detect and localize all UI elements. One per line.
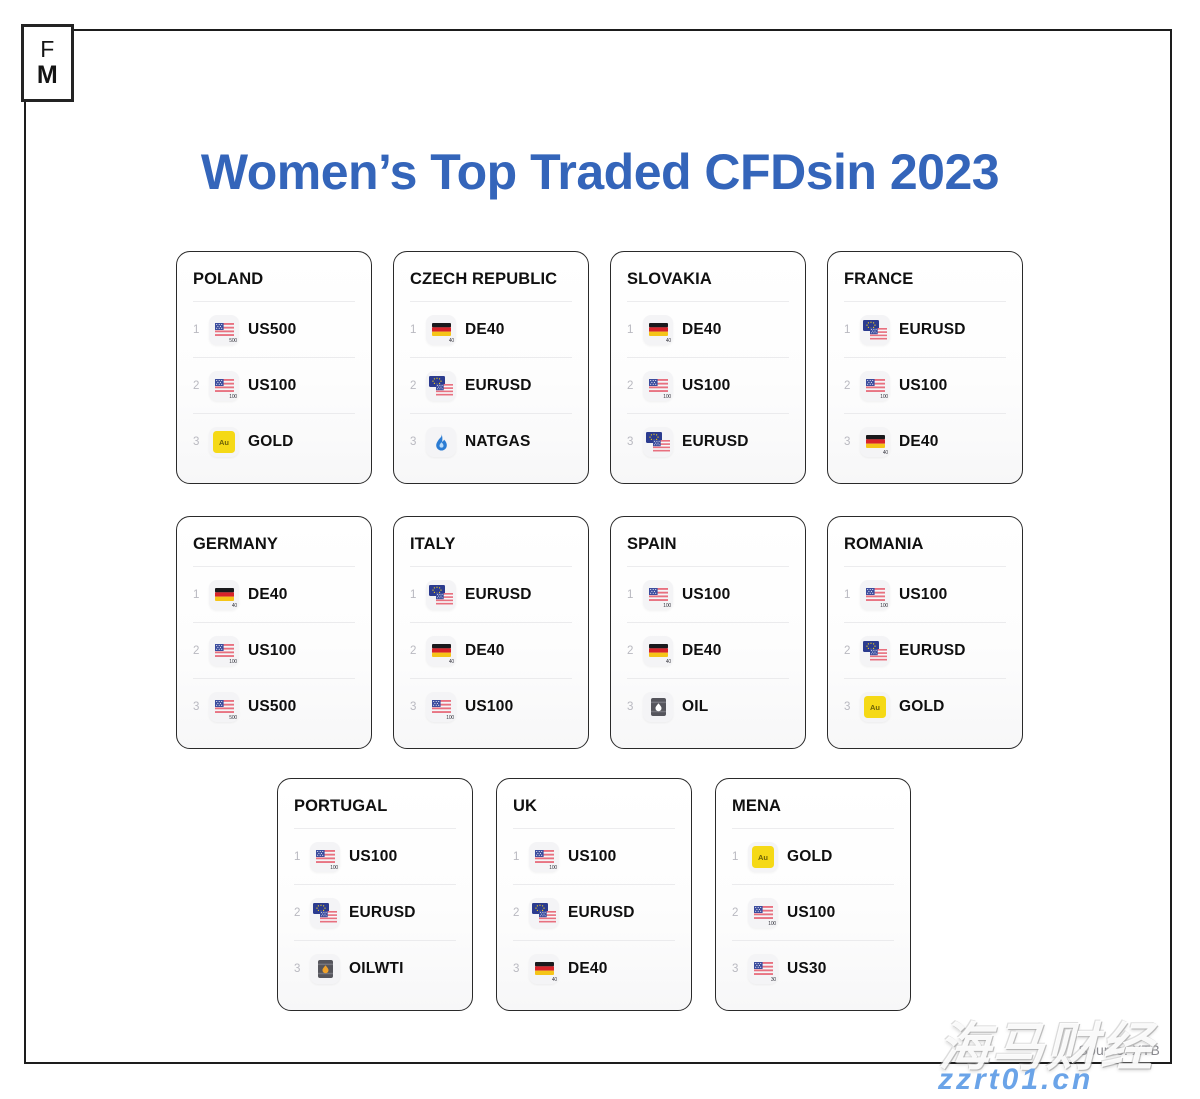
rank-number: 2: [410, 380, 426, 392]
instrument-row: 140DE40: [410, 301, 572, 357]
instrument-label: DE40: [682, 642, 722, 660]
rank-number: 2: [627, 645, 643, 657]
rank-number: 2: [627, 380, 643, 392]
icon-index-label: 100: [880, 604, 888, 609]
rank-number: 1: [627, 589, 643, 601]
gold-icon: Au: [209, 427, 239, 457]
instrument-list: 1100US100240DE403OIL: [627, 566, 789, 734]
country-card-title: SLOVAKIA: [627, 270, 789, 289]
instrument-row: 340DE40: [844, 413, 1006, 469]
instrument-label: DE40: [465, 642, 505, 660]
icon-index-label: 100: [549, 866, 557, 871]
us-flag-icon: 100: [310, 842, 340, 872]
gold-icon: Au: [748, 842, 778, 872]
country-card: SLOVAKIA140DE402100US1003EURUSD: [610, 251, 806, 484]
svg-text:Au: Au: [870, 703, 880, 712]
country-card: UK1100US1002EURUSD340DE40: [496, 778, 692, 1011]
eurusd-icon: [426, 580, 456, 610]
svg-text:Au: Au: [758, 853, 768, 862]
instrument-label: OILWTI: [349, 960, 404, 978]
instrument-row: 240DE40: [627, 622, 789, 678]
rank-number: 3: [193, 701, 209, 713]
instrument-row: 2100US100: [627, 357, 789, 413]
icon-index-label: 100: [229, 395, 237, 400]
instrument-label: EURUSD: [682, 433, 749, 451]
instrument-label: EURUSD: [465, 377, 532, 395]
instrument-row: 1100US100: [513, 828, 675, 884]
eurusd-icon: [643, 427, 673, 457]
fm-logo: F M: [21, 24, 74, 102]
instrument-row: 3OIL: [627, 678, 789, 734]
instrument-list: 1500US5002100US1003AuGOLD: [193, 301, 355, 469]
icon-index-label: 100: [663, 395, 671, 400]
icon-index-label: 500: [229, 716, 237, 721]
instrument-list: 1100US1002EURUSD3AuGOLD: [844, 566, 1006, 734]
country-card-title: SPAIN: [627, 535, 789, 554]
instrument-row: 1EURUSD: [844, 301, 1006, 357]
us-flag-icon: 100: [529, 842, 559, 872]
country-card-title: PORTUGAL: [294, 797, 456, 816]
instrument-row: 2100US100: [844, 357, 1006, 413]
instrument-row: 240DE40: [410, 622, 572, 678]
instrument-row: 1100US100: [844, 566, 1006, 622]
instrument-row: 3100US100: [410, 678, 572, 734]
instrument-list: 140DE402100US1003EURUSD: [627, 301, 789, 469]
rank-number: 3: [844, 701, 860, 713]
icon-index-label: 40: [449, 339, 454, 344]
icon-index-label: 40: [232, 604, 237, 609]
instrument-row: 1AuGOLD: [732, 828, 894, 884]
rank-number: 2: [193, 645, 209, 657]
instrument-list: 140DE402100US1003500US500: [193, 566, 355, 734]
us-flag-icon: 30: [748, 954, 778, 984]
instrument-row: 3500US500: [193, 678, 355, 734]
instrument-row: 2100US100: [193, 622, 355, 678]
rank-number: 1: [844, 324, 860, 336]
instrument-label: US100: [568, 848, 616, 866]
rank-number: 3: [294, 963, 310, 975]
instrument-row: 1100US100: [294, 828, 456, 884]
rank-number: 1: [294, 851, 310, 863]
natgas-icon: [426, 427, 456, 457]
instrument-row: 2100US100: [193, 357, 355, 413]
de-flag-icon: 40: [209, 580, 239, 610]
instrument-label: US100: [682, 377, 730, 395]
instrument-row: 3NATGAS: [410, 413, 572, 469]
instrument-label: DE40: [899, 433, 939, 451]
icon-index-label: 30: [771, 978, 776, 983]
instrument-label: GOLD: [899, 698, 945, 716]
instrument-label: NATGAS: [465, 433, 531, 451]
icon-index-label: 100: [768, 922, 776, 927]
svg-text:Au: Au: [219, 438, 229, 447]
instrument-label: US100: [248, 377, 296, 395]
country-card-title: ROMANIA: [844, 535, 1006, 554]
eurusd-icon: [529, 898, 559, 928]
instrument-label: US100: [682, 586, 730, 604]
de-flag-icon: 40: [643, 636, 673, 666]
instrument-label: US100: [787, 904, 835, 922]
instrument-label: GOLD: [248, 433, 294, 451]
instrument-row: 2100US100: [732, 884, 894, 940]
country-card: CZECH REPUBLIC140DE402EURUSD3NATGAS: [393, 251, 589, 484]
us-flag-icon: 500: [209, 692, 239, 722]
instrument-row: 2EURUSD: [410, 357, 572, 413]
country-card-title: ITALY: [410, 535, 572, 554]
country-card: POLAND1500US5002100US1003AuGOLD: [176, 251, 372, 484]
icon-index-label: 40: [552, 978, 557, 983]
instrument-row: 1500US500: [193, 301, 355, 357]
country-card-title: POLAND: [193, 270, 355, 289]
instrument-row: 3AuGOLD: [844, 678, 1006, 734]
us-flag-icon: 100: [426, 692, 456, 722]
country-card: GERMANY140DE402100US1003500US500: [176, 516, 372, 749]
instrument-label: OIL: [682, 698, 708, 716]
icon-index-label: 40: [666, 339, 671, 344]
instrument-label: EURUSD: [899, 321, 966, 339]
instrument-label: GOLD: [787, 848, 833, 866]
icon-index-label: 100: [663, 604, 671, 609]
rank-number: 2: [193, 380, 209, 392]
logo-letter-f: F: [40, 38, 55, 61]
de-flag-icon: 40: [643, 315, 673, 345]
instrument-row: 2EURUSD: [844, 622, 1006, 678]
instrument-list: 1EURUSD240DE403100US100: [410, 566, 572, 734]
instrument-list: 1100US1002EURUSD3OILWTI: [294, 828, 456, 996]
us-flag-icon: 100: [209, 371, 239, 401]
rank-number: 1: [513, 851, 529, 863]
instrument-label: EURUSD: [465, 586, 532, 604]
logo-letter-m: M: [37, 63, 58, 88]
source-label: Source: XTB: [1078, 1042, 1160, 1058]
instrument-list: 1EURUSD2100US100340DE40: [844, 301, 1006, 469]
us-flag-icon: 100: [860, 580, 890, 610]
rank-number: 1: [410, 324, 426, 336]
us-flag-icon: 100: [643, 580, 673, 610]
icon-index-label: 100: [880, 395, 888, 400]
rank-number: 3: [627, 701, 643, 713]
rank-number: 1: [410, 589, 426, 601]
instrument-label: US500: [248, 698, 296, 716]
us-flag-icon: 100: [643, 371, 673, 401]
de-flag-icon: 40: [529, 954, 559, 984]
instrument-row: 3OILWTI: [294, 940, 456, 996]
icon-index-label: 40: [666, 660, 671, 665]
card-row-1: POLAND1500US5002100US1003AuGOLDCZECH REP…: [176, 251, 1023, 484]
rank-number: 3: [844, 436, 860, 448]
instrument-label: US100: [465, 698, 513, 716]
icon-index-label: 100: [229, 660, 237, 665]
rank-number: 2: [732, 907, 748, 919]
instrument-row: 1EURUSD: [410, 566, 572, 622]
instrument-label: DE40: [248, 586, 288, 604]
country-card-title: MENA: [732, 797, 894, 816]
de-flag-icon: 40: [426, 315, 456, 345]
rank-number: 1: [627, 324, 643, 336]
country-card: MENA1AuGOLD2100US100330US30: [715, 778, 911, 1011]
instrument-label: DE40: [568, 960, 608, 978]
instrument-row: 140DE40: [627, 301, 789, 357]
us-flag-icon: 100: [209, 636, 239, 666]
eurusd-icon: [860, 315, 890, 345]
de-flag-icon: 40: [860, 427, 890, 457]
instrument-row: 340DE40: [513, 940, 675, 996]
instrument-label: US100: [248, 642, 296, 660]
page-title: Women’s Top Traded CFDsin 2023: [0, 143, 1200, 201]
country-card-title: FRANCE: [844, 270, 1006, 289]
icon-index-label: 40: [449, 660, 454, 665]
country-card: ITALY1EURUSD240DE403100US100: [393, 516, 589, 749]
us-flag-icon: 100: [748, 898, 778, 928]
instrument-label: US100: [349, 848, 397, 866]
oilwti-icon: [310, 954, 340, 984]
oil-icon: [643, 692, 673, 722]
instrument-label: EURUSD: [349, 904, 416, 922]
rank-number: 2: [294, 907, 310, 919]
icon-index-label: 500: [229, 339, 237, 344]
instrument-label: US500: [248, 321, 296, 339]
rank-number: 2: [513, 907, 529, 919]
country-card-title: CZECH REPUBLIC: [410, 270, 572, 289]
instrument-row: 3EURUSD: [627, 413, 789, 469]
instrument-row: 1100US100: [627, 566, 789, 622]
instrument-row: 3AuGOLD: [193, 413, 355, 469]
country-card-title: GERMANY: [193, 535, 355, 554]
rank-number: 1: [193, 589, 209, 601]
rank-number: 1: [193, 324, 209, 336]
instrument-list: 1100US1002EURUSD340DE40: [513, 828, 675, 996]
rank-number: 3: [732, 963, 748, 975]
instrument-list: 140DE402EURUSD3NATGAS: [410, 301, 572, 469]
us-flag-icon: 500: [209, 315, 239, 345]
rank-number: 3: [627, 436, 643, 448]
instrument-label: EURUSD: [899, 642, 966, 660]
rank-number: 3: [410, 436, 426, 448]
rank-number: 1: [732, 851, 748, 863]
eurusd-icon: [860, 636, 890, 666]
eurusd-icon: [426, 371, 456, 401]
rank-number: 3: [513, 963, 529, 975]
country-card: FRANCE1EURUSD2100US100340DE40: [827, 251, 1023, 484]
watermark-url: zzrt01.cn: [938, 1063, 1093, 1097]
instrument-row: 2EURUSD: [294, 884, 456, 940]
de-flag-icon: 40: [426, 636, 456, 666]
instrument-list: 1AuGOLD2100US100330US30: [732, 828, 894, 996]
instrument-label: DE40: [682, 321, 722, 339]
instrument-label: DE40: [465, 321, 505, 339]
instrument-label: US100: [899, 586, 947, 604]
country-card-title: UK: [513, 797, 675, 816]
card-row-2: GERMANY140DE402100US1003500US500ITALY1EU…: [176, 516, 1023, 749]
rank-number: 2: [844, 380, 860, 392]
icon-index-label: 100: [330, 866, 338, 871]
instrument-row: 140DE40: [193, 566, 355, 622]
rank-number: 1: [844, 589, 860, 601]
card-row-3: PORTUGAL1100US1002EURUSD3OILWTIUK1100US1…: [277, 778, 934, 1011]
gold-icon: Au: [860, 692, 890, 722]
rank-number: 2: [410, 645, 426, 657]
us-flag-icon: 100: [860, 371, 890, 401]
country-card: SPAIN1100US100240DE403OIL: [610, 516, 806, 749]
instrument-label: US100: [899, 377, 947, 395]
country-card: PORTUGAL1100US1002EURUSD3OILWTI: [277, 778, 473, 1011]
icon-index-label: 40: [883, 451, 888, 456]
instrument-label: EURUSD: [568, 904, 635, 922]
icon-index-label: 100: [446, 716, 454, 721]
rank-number: 3: [410, 701, 426, 713]
rank-number: 2: [844, 645, 860, 657]
rank-number: 3: [193, 436, 209, 448]
eurusd-icon: [310, 898, 340, 928]
instrument-label: US30: [787, 960, 827, 978]
instrument-row: 330US30: [732, 940, 894, 996]
country-card: ROMANIA1100US1002EURUSD3AuGOLD: [827, 516, 1023, 749]
instrument-row: 2EURUSD: [513, 884, 675, 940]
